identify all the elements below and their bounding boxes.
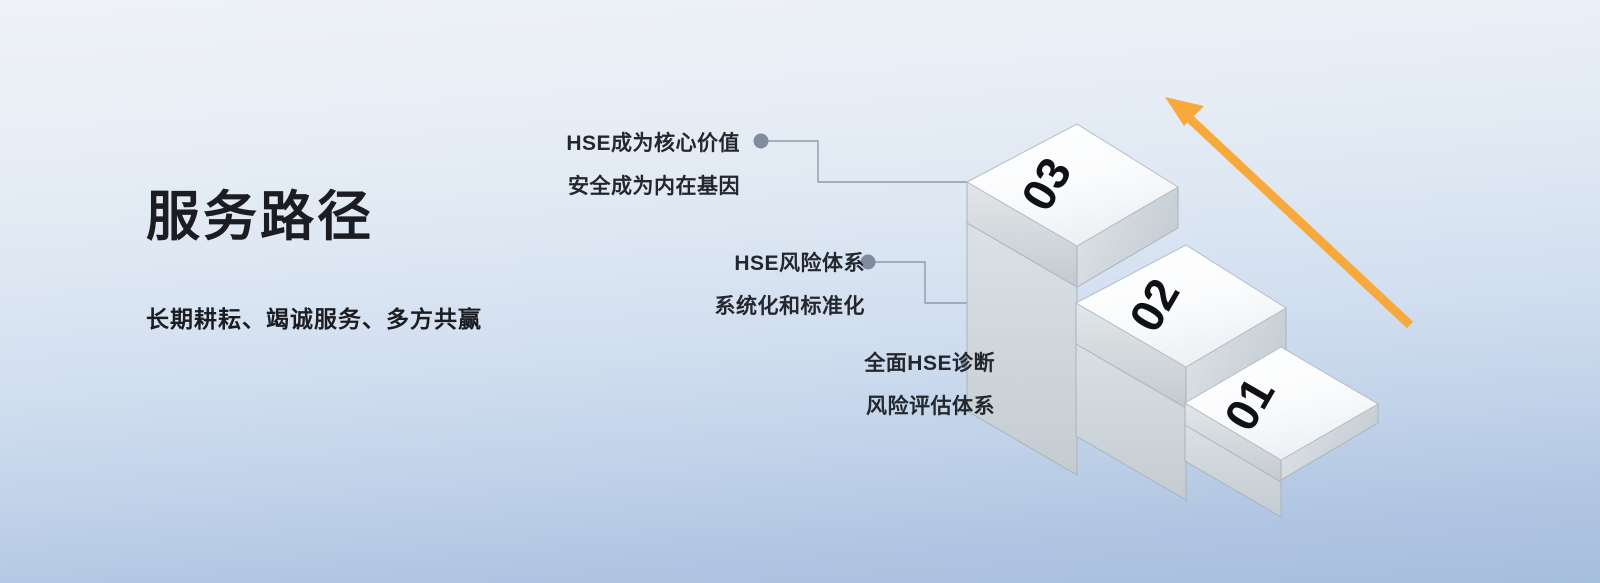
connector-dot-step-3 <box>754 134 769 149</box>
slide-canvas: 服务路径 长期耕耘、竭诚服务、多方共赢 <box>0 0 1600 583</box>
step-label-03: HSE成为核心价值 安全成为内在基因 <box>300 133 740 197</box>
step-label-02-line-1: HSE风险体系 <box>425 253 865 274</box>
step-label-02-line-2: 系统化和标准化 <box>425 274 865 317</box>
step-label-03-line-2: 安全成为内在基因 <box>300 154 740 197</box>
step-label-02: HSE风险体系 系统化和标准化 <box>425 253 865 317</box>
step-label-03-line-1: HSE成为核心价值 <box>300 133 740 154</box>
step-label-01-line-2: 风险评估体系 <box>555 374 995 417</box>
connector-line-step-3 <box>754 134 969 183</box>
step-label-01: 全面HSE诊断 风险评估体系 <box>555 353 995 417</box>
step-label-01-line-1: 全面HSE诊断 <box>555 353 995 374</box>
